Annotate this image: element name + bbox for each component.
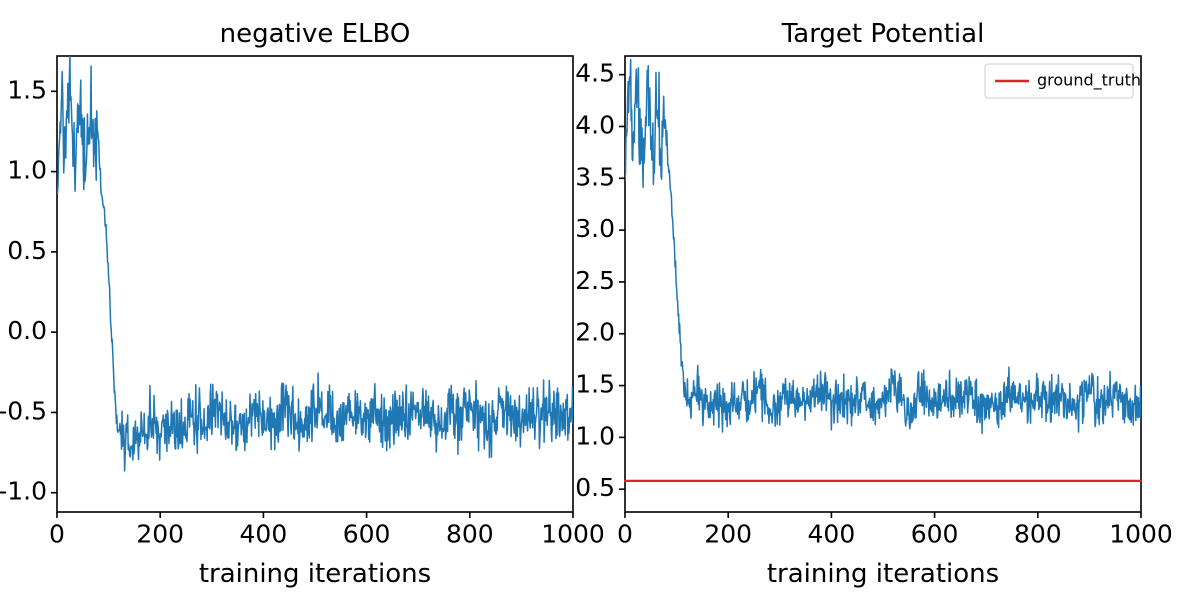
y-tick-label: 3.0 xyxy=(575,214,615,243)
y-tick-label: 4.5 xyxy=(575,59,615,88)
x-tick-label: 600 xyxy=(911,519,959,548)
y-tick-label: 1.0 xyxy=(575,421,615,450)
chart-svg: negative ELBO-1.0-0.50.00.51.01.50200400… xyxy=(0,0,1200,600)
x-tick-label: 200 xyxy=(136,519,184,548)
x-tick-label: 600 xyxy=(343,519,391,548)
y-tick-label: 0.5 xyxy=(575,473,615,502)
x-tick-label: 0 xyxy=(617,519,633,548)
y-tick-label: -0.5 xyxy=(0,396,47,425)
x-axis-label: training iterations xyxy=(199,559,431,589)
y-tick-label: 0.0 xyxy=(7,316,47,345)
x-axis-label: training iterations xyxy=(767,559,999,589)
legend: ground_truth xyxy=(985,64,1141,98)
x-tick-label: 800 xyxy=(446,519,494,548)
y-tick-label: 3.5 xyxy=(575,162,615,191)
x-tick-label: 0 xyxy=(49,519,65,548)
figure-canvas: negative ELBO-1.0-0.50.00.51.01.50200400… xyxy=(0,0,1200,600)
x-tick-label: 400 xyxy=(240,519,288,548)
panel-title: negative ELBO xyxy=(220,19,411,49)
y-tick-label: 2.5 xyxy=(575,266,615,295)
x-tick-label: 1000 xyxy=(1109,519,1173,548)
y-tick-label: 2.0 xyxy=(575,318,615,347)
series-line-negative_elbo xyxy=(57,56,573,471)
y-tick-label: 1.0 xyxy=(7,156,47,185)
x-tick-label: 800 xyxy=(1014,519,1062,548)
y-tick-label: -1.0 xyxy=(0,477,47,506)
y-tick-label: 1.5 xyxy=(7,75,47,104)
y-tick-label: 1.5 xyxy=(575,370,615,399)
panel-title: Target Potential xyxy=(781,19,985,49)
y-tick-label: 0.5 xyxy=(7,236,47,265)
series-line-target_potential xyxy=(625,60,1141,434)
x-tick-label: 1000 xyxy=(541,519,605,548)
x-tick-label: 200 xyxy=(704,519,752,548)
legend-label-ground_truth: ground_truth xyxy=(1037,71,1141,91)
x-tick-label: 400 xyxy=(808,519,856,548)
plot-frame xyxy=(625,56,1141,512)
panel-negative-elbo: negative ELBO-1.0-0.50.00.51.01.50200400… xyxy=(0,19,605,589)
y-tick-label: 4.0 xyxy=(575,110,615,139)
panel-target-potential: Target Potential0.51.01.52.02.53.03.54.0… xyxy=(575,19,1173,589)
